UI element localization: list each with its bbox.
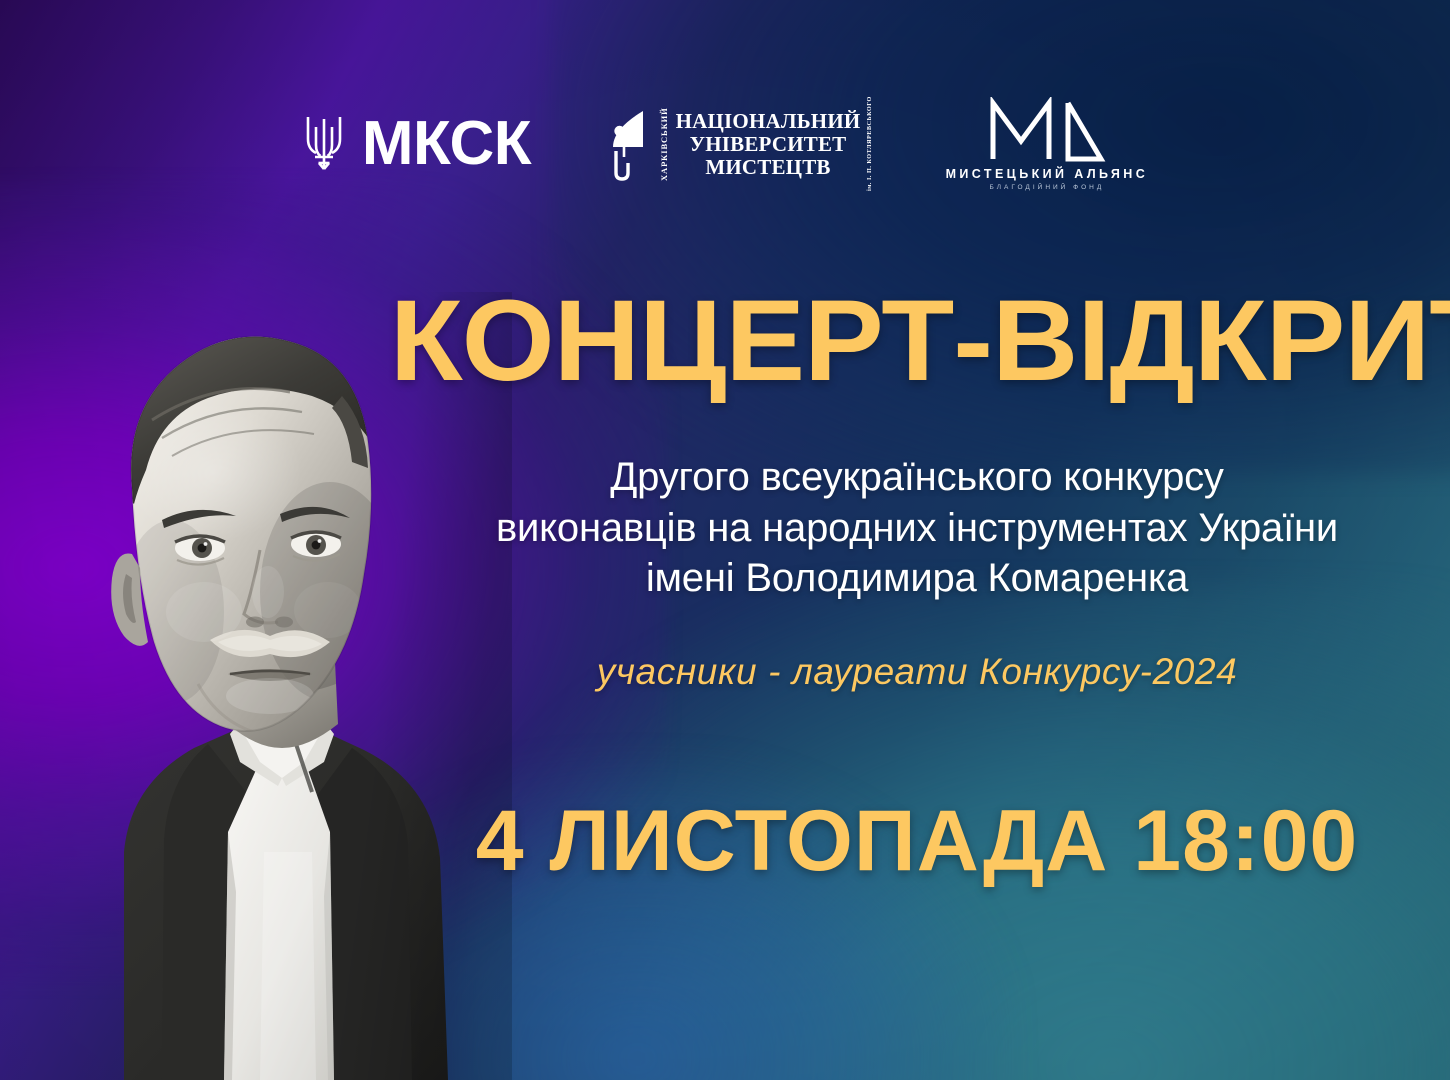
ma-monogram-mark [988,97,1106,163]
event-subtitle: Другого всеукраїнського конкурсу виконав… [410,452,1424,603]
logo-university-line3: МИСТЕЦТВ [705,157,830,178]
sponsor-logo-bar: МКСК ХАРКІВСЬКИЙ НАЦІОНАЛЬНИЙ УНІВЕРСИТЕ… [0,96,1450,192]
logo-ma-name: МИСТЕЦЬКИЙ АЛЬЯНС [946,168,1149,181]
logo-mystetskyi-alians[interactable]: МИСТЕЦЬКИЙ АЛЬЯНС БЛАГОДІЙНИЙ ФОНД [946,97,1149,192]
logo-mksk-wordmark: МКСК [362,113,531,175]
logo-university-vertical-left: ХАРКІВСЬКИЙ [660,105,669,183]
logo-university-vertical-right: ім. І. П. КОТЛЯРЕВСЬКОГО [867,105,873,183]
logo-university-line2: УНІВЕРСИТЕТ [690,134,847,155]
ukraine-trident-icon [302,113,346,175]
logo-mksk[interactable]: МКСК [302,113,531,175]
event-subtitle-line3: імені Володимира Комаренка [410,553,1424,603]
event-poster: МКСК ХАРКІВСЬКИЙ НАЦІОНАЛЬНИЙ УНІВЕРСИТЕ… [0,0,1450,1080]
event-subtitle-line1: Другого всеукраїнського конкурсу [410,452,1424,502]
event-datetime: 4 ЛИСТОПАДА 18:00 [410,798,1424,884]
page-title: КОНЦЕРТ-ВІДКРИТТЯ [390,286,1445,396]
logo-university-wordmark: НАЦІОНАЛЬНИЙ УНІВЕРСИТЕТ МИСТЕЦТВ [676,105,861,183]
kharkiv-university-of-arts-mark [603,107,653,181]
logo-university-line1: НАЦІОНАЛЬНИЙ [676,111,861,132]
logo-kharkiv-university-of-arts[interactable]: ХАРКІВСЬКИЙ НАЦІОНАЛЬНИЙ УНІВЕРСИТЕТ МИС… [603,105,873,183]
event-tagline: учасники - лауреати Конкурсу-2024 [410,650,1424,694]
poster-text-content: КОНЦЕРТ-ВІДКРИТТЯ Другого всеукраїнськог… [410,286,1424,884]
logo-ma-subtitle: БЛАГОДІЙНИЙ ФОНД [990,185,1105,192]
event-subtitle-line2: виконавців на народних інструментах Укра… [410,503,1424,553]
